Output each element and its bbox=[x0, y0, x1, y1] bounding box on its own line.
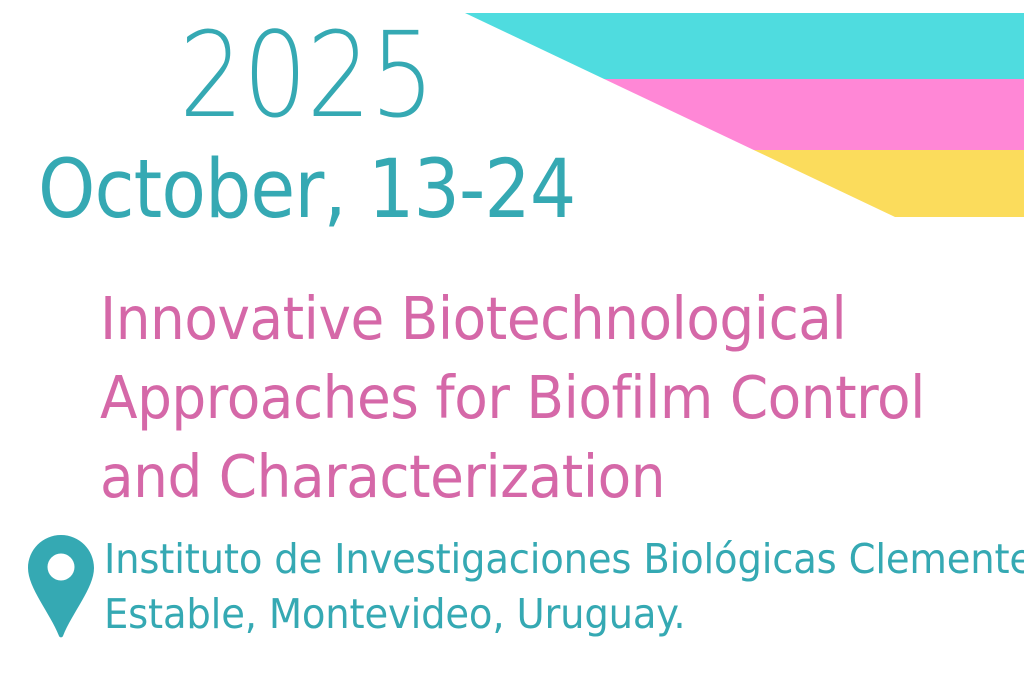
event-title: Innovative Biotechnological Approaches f… bbox=[100, 279, 937, 516]
event-title-line-1: Innovative Biotechnological bbox=[100, 279, 937, 358]
venue-address-line-1: Instituto de Investigaciones Biológicas … bbox=[104, 532, 1024, 587]
event-year: 2025 bbox=[61, 16, 434, 134]
event-poster: 2025 October, 13-24 Innovative Biotechno… bbox=[0, 0, 1024, 678]
event-title-line-2: Approaches for Biofilm Control bbox=[100, 358, 937, 437]
map-pin-icon bbox=[28, 535, 94, 639]
venue-address: Instituto de Investigaciones Biológicas … bbox=[104, 532, 1024, 642]
event-title-line-3: and Characterization bbox=[100, 437, 937, 516]
venue-block: Instituto de Investigaciones Biológicas … bbox=[28, 532, 1024, 642]
venue-address-line-2: Estable, Montevideo, Uruguay. bbox=[104, 587, 1024, 642]
event-dates: October, 13-24 bbox=[38, 150, 575, 231]
